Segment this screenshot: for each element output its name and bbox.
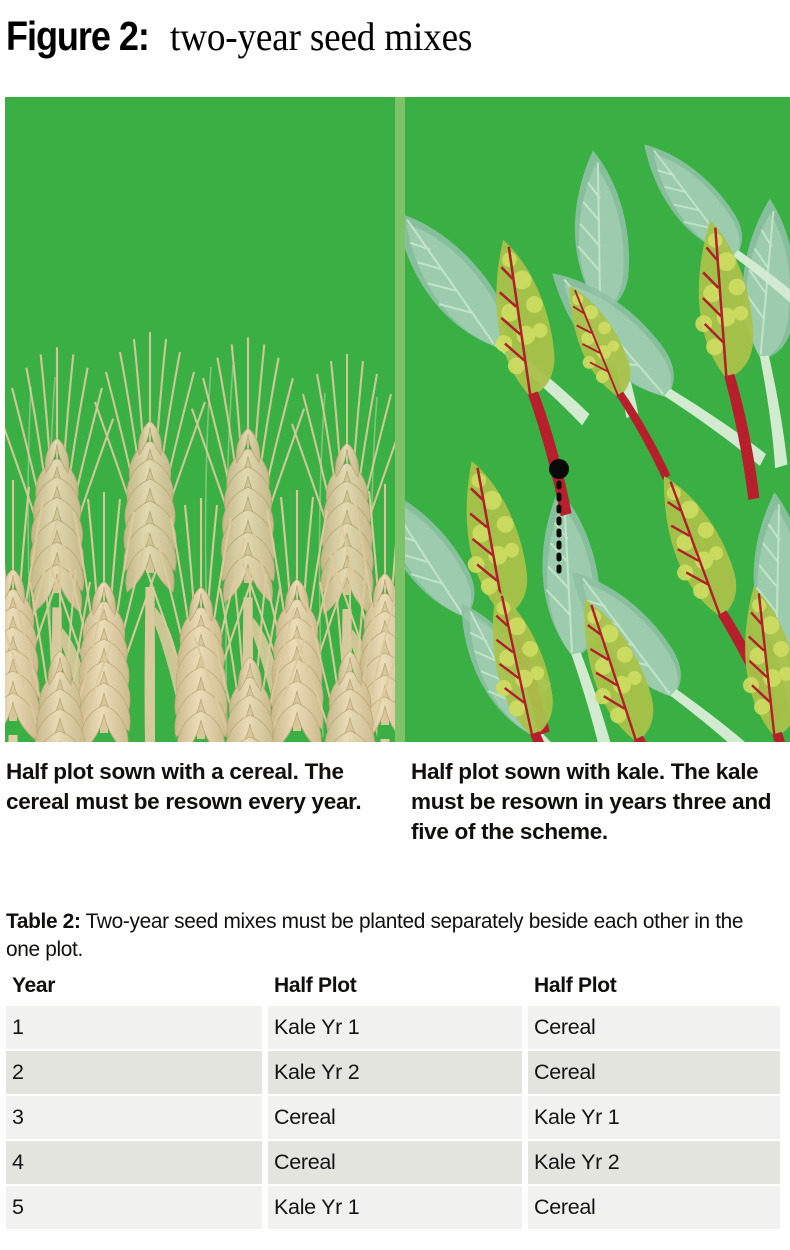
column-header-halfplot-2: Half Plot <box>528 973 780 1004</box>
cell-halfplot-2: Kale Yr 1 <box>528 1096 780 1139</box>
cereal-panel <box>5 97 395 742</box>
column-header-halfplot-1: Half Plot <box>268 973 522 1004</box>
table-row: 2 Kale Yr 2 Cereal <box>6 1051 780 1094</box>
table-row: 4 Cereal Kale Yr 2 <box>6 1141 780 1184</box>
table-header-row: Year Half Plot Half Plot <box>6 973 780 1004</box>
cell-year: 5 <box>6 1186 262 1229</box>
kale-caption: Half plot sown with kale. The kale must … <box>411 757 790 847</box>
cell-halfplot-2: Kale Yr 2 <box>528 1141 780 1184</box>
page-title: Figure 2:two-year seed mixes <box>6 12 776 64</box>
cell-halfplot-1: Kale Yr 1 <box>268 1006 522 1049</box>
figure-title-text: two-year seed mixes <box>170 13 472 61</box>
cell-year: 4 <box>6 1141 262 1184</box>
cell-halfplot-1: Kale Yr 2 <box>268 1051 522 1094</box>
cell-year: 2 <box>6 1051 262 1094</box>
table-block: Table 2: Two-year seed mixes must be pla… <box>6 907 784 1231</box>
cell-halfplot-2: Cereal <box>528 1186 780 1229</box>
table-row: 3 Cereal Kale Yr 1 <box>6 1096 780 1139</box>
cell-halfplot-1: Cereal <box>268 1096 522 1139</box>
table-caption: Table 2: Two-year seed mixes must be pla… <box>6 907 777 963</box>
cereal-caption: Half plot sown with a cereal. The cereal… <box>6 757 386 817</box>
cell-halfplot-1: Cereal <box>268 1141 522 1184</box>
column-header-year: Year <box>6 973 262 1004</box>
table-row: 5 Kale Yr 1 Cereal <box>6 1186 780 1229</box>
cell-year: 1 <box>6 1006 262 1049</box>
table-caption-text: Two-year seed mixes must be planted sepa… <box>6 909 743 961</box>
illustration-strip <box>5 97 790 742</box>
cell-halfplot-1: Kale Yr 1 <box>268 1186 522 1229</box>
table-label: Table 2: <box>6 909 81 933</box>
kale-panel <box>405 97 790 742</box>
cell-halfplot-2: Cereal <box>528 1006 780 1049</box>
figure-label: Figure 2: <box>6 12 149 60</box>
table-row: 1 Kale Yr 1 Cereal <box>6 1006 780 1049</box>
cell-halfplot-2: Cereal <box>528 1051 780 1094</box>
cell-year: 3 <box>6 1096 262 1139</box>
seed-mix-table: Year Half Plot Half Plot 1 Kale Yr 1 Cer… <box>0 971 786 1231</box>
